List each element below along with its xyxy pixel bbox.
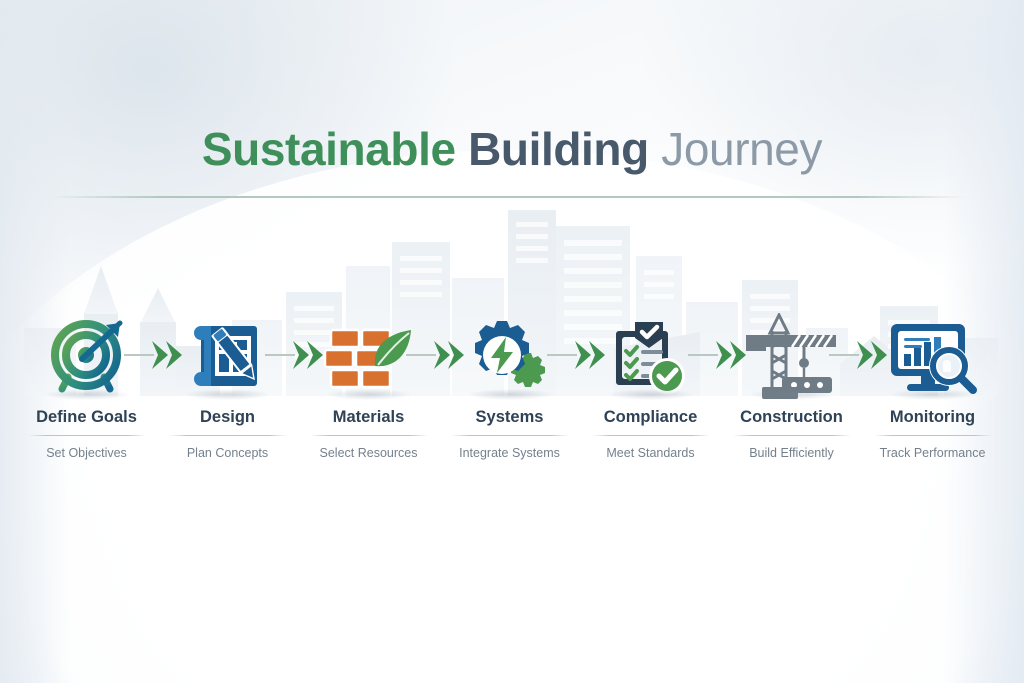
step-compliance[interactable]: Compliance Meet Standards [582,310,719,461]
icon-shadow [891,389,975,400]
page-title: Sustainable Building Journey [0,126,1024,172]
step-title: Materials [300,408,437,426]
infographic-canvas: Sustainable Building Journey [0,0,1024,683]
icon-shadow [468,389,552,400]
step-systems[interactable]: Systems Integrate Systems [441,310,578,461]
icon-shadow [750,389,834,400]
step-define-goals[interactable]: Define Goals Set Objectives [18,310,155,461]
step-title: Design [159,408,296,426]
brick-wall-leaf-icon [323,322,415,394]
step-materials[interactable]: Materials Select Resources [300,310,437,461]
step-icon-container [864,310,1001,406]
step-subtitle: Build Efficiently [723,447,860,461]
step-title: Construction [723,408,860,426]
icon-shadow [186,389,270,400]
target-arrow-icon [46,319,128,397]
monitor-chart-magnifier-icon [885,318,981,398]
step-divider [28,435,146,436]
title-part-sustainable: Sustainable [202,123,456,175]
step-title: Systems [441,408,578,426]
blueprint-pencil-icon [185,320,271,396]
icon-shadow [327,389,411,400]
step-divider [169,435,287,436]
step-subtitle: Meet Standards [582,447,719,461]
gear-lightning-icon [466,319,554,397]
title-underline-rule [50,196,966,198]
step-divider [874,435,992,436]
title-part-journey: Journey [661,123,822,175]
title-part-building: Building [468,123,649,175]
step-subtitle: Plan Concepts [159,447,296,461]
step-subtitle: Select Resources [300,447,437,461]
process-steps-row: Define Goals Set Objectives [18,310,1006,461]
step-subtitle: Set Objectives [18,447,155,461]
step-divider [592,435,710,436]
icon-shadow [609,389,693,400]
step-construction[interactable]: Construction Build Efficiently [723,310,860,461]
clipboard-check-icon [607,318,695,398]
step-design[interactable]: Design Plan Concepts [159,310,296,461]
step-subtitle: Track Performance [864,447,1001,461]
step-divider [451,435,569,436]
step-title: Monitoring [864,408,1001,426]
step-monitoring[interactable]: Monitoring Track Performance [864,310,1001,461]
step-subtitle: Integrate Systems [441,447,578,461]
step-title: Compliance [582,408,719,426]
icon-shadow [45,389,129,400]
step-divider [310,435,428,436]
step-divider [733,435,851,436]
step-title: Define Goals [18,408,155,426]
